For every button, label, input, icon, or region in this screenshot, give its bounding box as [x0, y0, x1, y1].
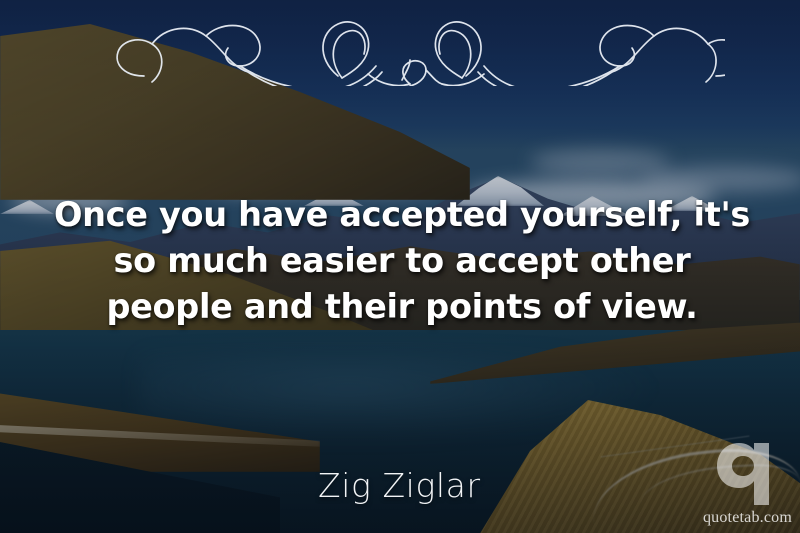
decorative-flourish-ornament	[80, 14, 725, 86]
quote-text: Once you have accepted yourself, it's so…	[46, 192, 758, 330]
quote-line: so much easier to accept other	[46, 238, 758, 284]
watermark[interactable]: quotetab.com	[674, 437, 792, 529]
watermark-site-label: quotetab.com	[703, 509, 792, 527]
quote-card: Once you have accepted yourself, it's so…	[0, 0, 800, 533]
quote-line: people and their points of view.	[46, 284, 758, 330]
quote-author: Zig Ziglar	[318, 466, 481, 505]
quotetab-logo-icon	[716, 437, 778, 505]
quote-line: Once you have accepted yourself, it's	[46, 192, 758, 238]
